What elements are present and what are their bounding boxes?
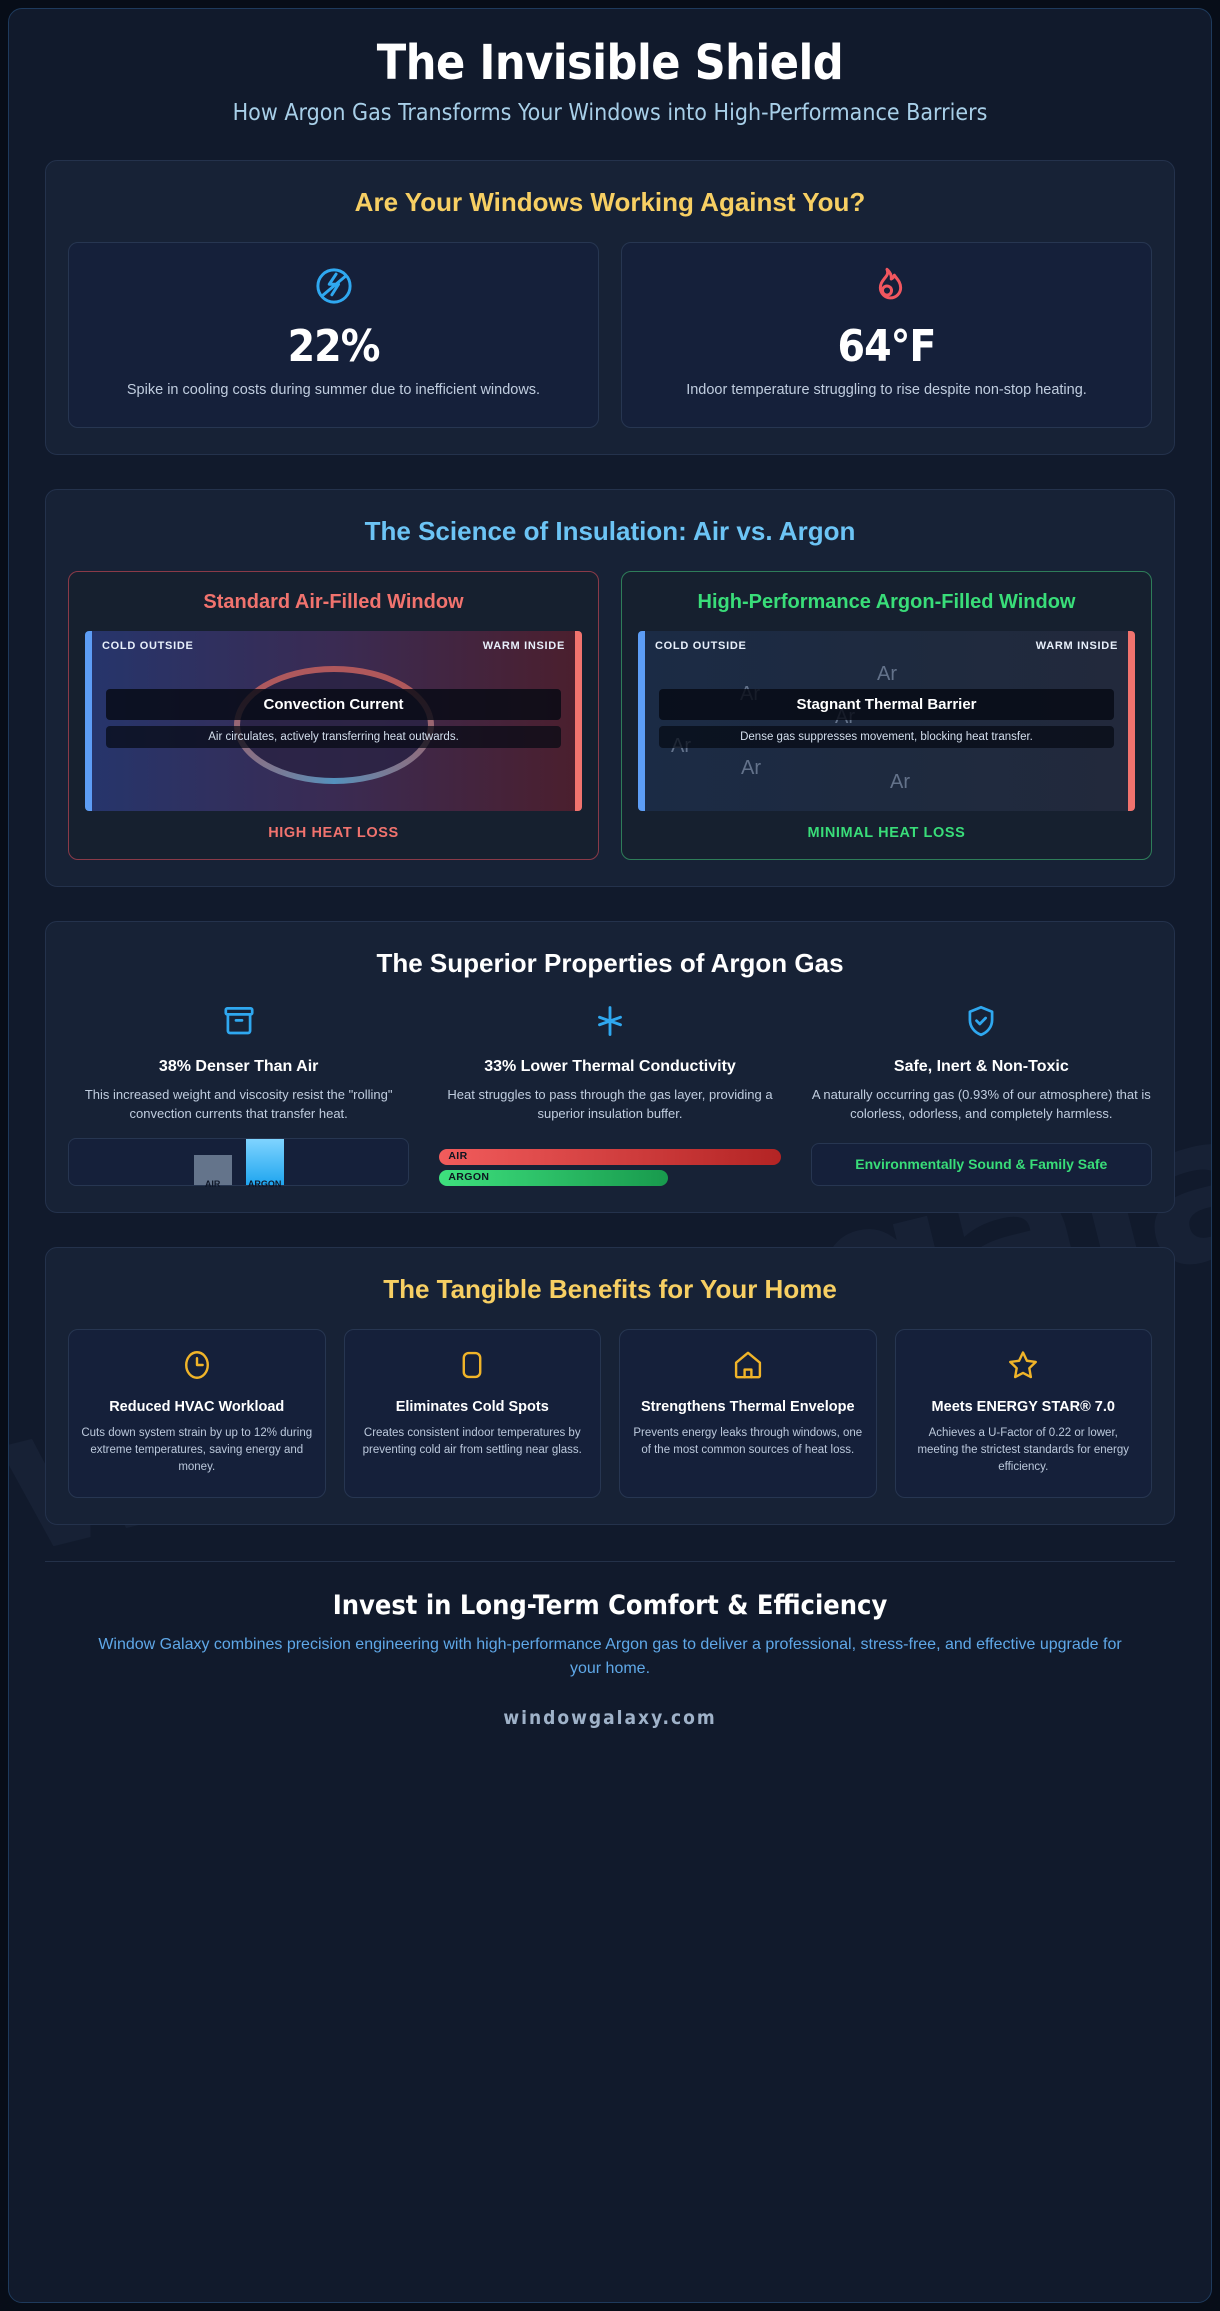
benefit-heading: Meets ENERGY STAR® 7.0 <box>908 1398 1140 1417</box>
benefit-heading: Eliminates Cold Spots <box>357 1398 589 1417</box>
argon-window-card: High-Performance Argon-Filled Window COL… <box>621 571 1152 860</box>
benefit-description: Achieves a U-Factor of 0.22 or lower, me… <box>908 1425 1140 1477</box>
comparison-row: Standard Air-Filled Window COLD OUTSIDE … <box>68 571 1152 860</box>
argon-caption: Stagnant Thermal Barrier <box>659 689 1114 720</box>
benefits-section-title: The Tangible Benefits for Your Home <box>68 1274 1152 1305</box>
property-card: 38% Denser Than Air This increased weigh… <box>68 1003 409 1186</box>
argon-caption-sub: Dense gas suppresses movement, blocking … <box>659 726 1114 748</box>
property-heading: 33% Lower Thermal Conductivity <box>439 1057 780 1078</box>
archive-box-icon <box>68 1003 409 1045</box>
air-caption: Convection Current <box>106 689 561 720</box>
conductivity-bar-label: ARGON <box>448 1171 489 1183</box>
air-caption-sub: Air circulates, actively transferring he… <box>106 726 561 748</box>
property-heading: Safe, Inert & Non-Toxic <box>811 1057 1152 1078</box>
property-visual: AIR ARGON <box>68 1124 409 1186</box>
warm-inside-label: WARM INSIDE <box>483 640 565 652</box>
argon-molecule: Ar <box>890 771 910 794</box>
property-description: A naturally occurring gas (0.93% of our … <box>811 1085 1152 1124</box>
cold-outside-label: COLD OUTSIDE <box>655 640 747 652</box>
footer-heading: Invest in Long-Term Comfort & Efficiency <box>85 1590 1135 1621</box>
air-window-heading: Standard Air-Filled Window <box>85 590 582 615</box>
benefit-card: Eliminates Cold Spots Creates consistent… <box>344 1329 602 1498</box>
stat-card: 64°F Indoor temperature struggling to ri… <box>621 242 1152 428</box>
benefit-description: Cuts down system strain by up to 12% dur… <box>81 1425 313 1477</box>
benefits-section: The Tangible Benefits for Your Home Redu… <box>45 1247 1175 1525</box>
shield-check-icon <box>811 1003 1152 1045</box>
stat-value: 22% <box>85 321 582 372</box>
conductivity-bar-label: AIR <box>448 1150 467 1162</box>
zap-circle-icon <box>85 265 582 311</box>
page-title: The Invisible Shield <box>45 35 1175 91</box>
property-visual: AIR ARGON <box>439 1135 780 1186</box>
safety-note: Environmentally Sound & Family Safe <box>811 1143 1152 1186</box>
property-description: Heat struggles to pass through the gas l… <box>439 1085 780 1124</box>
property-card: 33% Lower Thermal Conductivity Heat stru… <box>439 1003 780 1186</box>
property-description: This increased weight and viscosity resi… <box>68 1085 409 1124</box>
benefit-heading: Strengthens Thermal Envelope <box>632 1398 864 1417</box>
argon-molecule: Ar <box>877 663 897 686</box>
footer-body: Window Galaxy combines precision enginee… <box>85 1633 1135 1681</box>
convection-loop-graphic <box>234 666 434 784</box>
properties-section-title: The Superior Properties of Argon Gas <box>68 948 1152 979</box>
benefit-description: Prevents energy leaks through windows, o… <box>632 1425 864 1460</box>
home-icon <box>632 1348 864 1386</box>
page-footer: Invest in Long-Term Comfort & Efficiency… <box>45 1562 1175 1729</box>
stat-card: 22% Spike in cooling costs during summer… <box>68 242 599 428</box>
stat-description: Spike in cooling costs during summer due… <box>85 380 582 401</box>
star-icon <box>908 1348 1140 1386</box>
benefit-card: Meets ENERGY STAR® 7.0 Achieves a U-Fact… <box>895 1329 1153 1498</box>
argon-verdict: MINIMAL HEAT LOSS <box>638 825 1135 841</box>
density-bar-argon: ARGON <box>246 1139 284 1185</box>
stat-card-list: 22% Spike in cooling costs during summer… <box>68 242 1152 428</box>
air-window-card: Standard Air-Filled Window COLD OUTSIDE … <box>68 571 599 860</box>
argon-window-diagram: COLD OUTSIDE WARM INSIDE Ar Ar Ar Ar Ar … <box>638 631 1135 811</box>
property-card: Safe, Inert & Non-Toxic A naturally occu… <box>811 1003 1152 1186</box>
property-list: 38% Denser Than Air This increased weigh… <box>68 1003 1152 1186</box>
square-rounded-icon <box>357 1348 589 1386</box>
argon-window-heading: High-Performance Argon-Filled Window <box>638 590 1135 615</box>
property-heading: 38% Denser Than Air <box>68 1057 409 1078</box>
science-section: The Science of Insulation: Air vs. Argon… <box>45 489 1175 887</box>
air-window-diagram: COLD OUTSIDE WARM INSIDE Convection Curr… <box>85 631 582 811</box>
stat-description: Indoor temperature struggling to rise de… <box>638 380 1135 401</box>
density-bar-chart: AIR ARGON <box>68 1138 409 1186</box>
argon-molecule: Ar <box>741 757 761 780</box>
property-visual: Environmentally Sound & Family Safe <box>811 1129 1152 1186</box>
sparkle-icon <box>439 1003 780 1045</box>
science-section-title: The Science of Insulation: Air vs. Argon <box>68 516 1152 547</box>
stat-value: 64°F <box>638 321 1135 372</box>
flame-icon <box>638 265 1135 311</box>
problem-section: Are Your Windows Working Against You? 22… <box>45 160 1175 455</box>
footer-domain: windowgalaxy.com <box>85 1707 1135 1729</box>
page-header: The Invisible Shield How Argon Gas Trans… <box>45 35 1175 126</box>
conductivity-bar-chart: AIR ARGON <box>439 1149 780 1186</box>
air-verdict: HIGH HEAT LOSS <box>85 825 582 841</box>
benefit-list: Reduced HVAC Workload Cuts down system s… <box>68 1329 1152 1498</box>
density-bar-air: AIR <box>194 1155 232 1185</box>
clock-icon <box>81 1348 313 1386</box>
warm-inside-label: WARM INSIDE <box>1036 640 1118 652</box>
conductivity-bar-argon: ARGON <box>439 1170 668 1186</box>
page-subtitle: How Argon Gas Transforms Your Windows in… <box>45 100 1175 126</box>
cold-outside-label: COLD OUTSIDE <box>102 640 194 652</box>
density-bar-label: AIR <box>205 1179 221 1189</box>
conductivity-bar-air: AIR <box>439 1149 780 1165</box>
benefit-card: Reduced HVAC Workload Cuts down system s… <box>68 1329 326 1498</box>
infographic-page: windowgalaxy The Invisible Shield How Ar… <box>8 8 1212 2303</box>
benefit-heading: Reduced HVAC Workload <box>81 1398 313 1417</box>
properties-section: The Superior Properties of Argon Gas 38%… <box>45 921 1175 1213</box>
problem-section-title: Are Your Windows Working Against You? <box>68 187 1152 218</box>
density-bar-label: ARGON <box>248 1179 282 1189</box>
benefit-card: Strengthens Thermal Envelope Prevents en… <box>619 1329 877 1498</box>
benefit-description: Creates consistent indoor temperatures b… <box>357 1425 589 1460</box>
